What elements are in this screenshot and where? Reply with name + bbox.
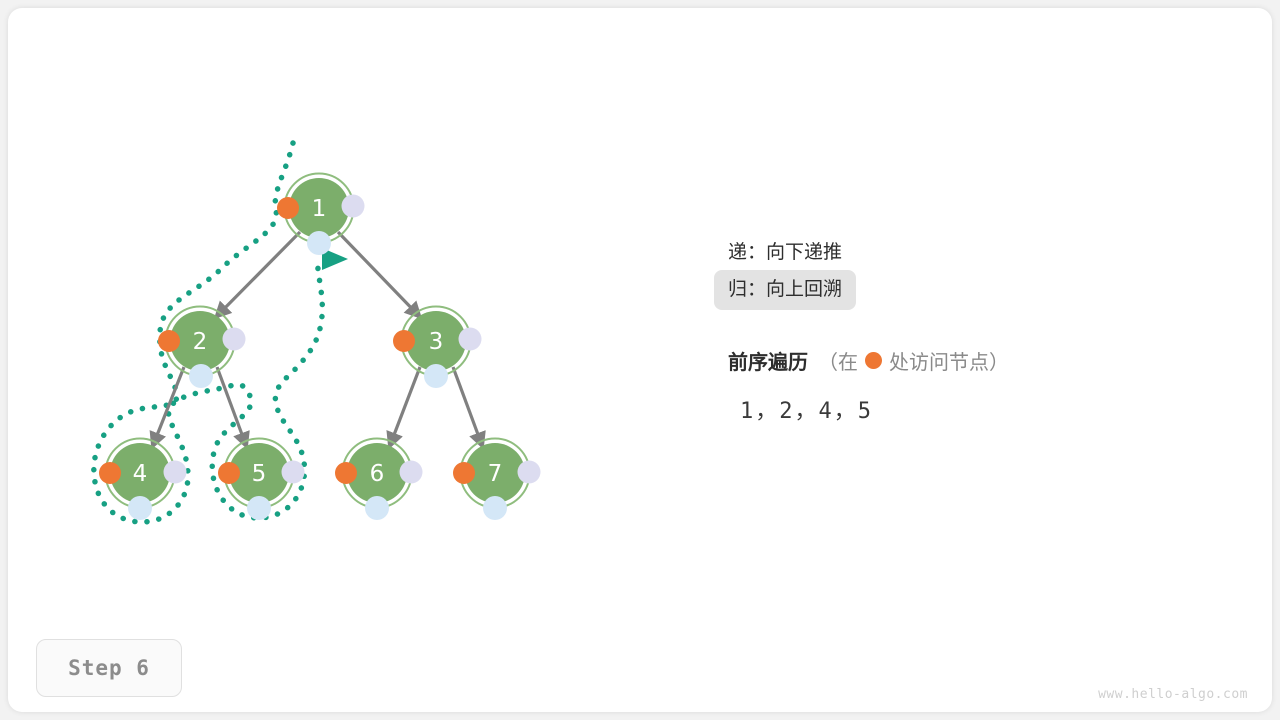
edge-3-6 (389, 367, 420, 448)
step-badge-label: Step 6 (68, 656, 150, 680)
bottom-dot-icon (128, 496, 152, 520)
visit-dot-icon (277, 197, 299, 219)
node-label: 7 (488, 461, 503, 487)
tree-node-6[interactable]: 6 (335, 439, 423, 521)
visit-dot-icon (393, 330, 415, 352)
visit-dot-icon (158, 330, 180, 352)
right-dot-icon (459, 328, 482, 351)
node-label: 1 (312, 196, 327, 222)
bottom-dot-icon (365, 496, 389, 520)
legend-panel: 递：向下递推 归：向上回溯 前序遍历 （在 处访问节点） 1，2，4，5 (728, 236, 1228, 425)
node-label: 2 (193, 329, 208, 355)
visit-dot-icon (865, 352, 882, 369)
right-dot-icon (223, 328, 246, 351)
right-dot-icon (400, 461, 423, 484)
traversal-title-prefix: （在 (818, 346, 858, 375)
edge-1-3 (338, 232, 421, 318)
tree-node-7[interactable]: 7 (453, 439, 541, 521)
right-dot-icon (518, 461, 541, 484)
right-dot-icon (164, 461, 187, 484)
watermark-text: www.hello-algo.com (1098, 687, 1248, 702)
screenshot-stage: 1 2 3 4 (0, 0, 1280, 720)
node-label: 6 (370, 461, 385, 487)
traversal-type-label: 前序遍历 (728, 346, 808, 375)
legend-recurse-down-row: 递：向下递推 (728, 236, 1228, 270)
traversal-block: 前序遍历 （在 处访问节点） 1，2，4，5 (728, 346, 1228, 425)
tree-node-4[interactable]: 4 (99, 439, 187, 521)
watermark: www.hello-algo.com (1098, 687, 1248, 702)
step-badge: Step 6 (36, 639, 182, 697)
tree-node-3[interactable]: 3 (393, 307, 482, 389)
legend-return-up-row: 归：向上回溯 (714, 270, 856, 310)
visit-dot-icon (218, 462, 240, 484)
edge-2-5 (217, 367, 247, 448)
traversal-sequence: 1，2，4，5 (740, 393, 1228, 425)
node-label: 5 (252, 461, 267, 487)
bottom-dot-icon (189, 364, 213, 388)
bottom-dot-icon (247, 496, 271, 520)
node-label: 4 (133, 461, 148, 487)
legend-recurse-down-label: 递：向下递推 (728, 238, 842, 267)
right-dot-icon (342, 195, 365, 218)
visit-dot-icon (453, 462, 475, 484)
traversal-title: 前序遍历 （在 处访问节点） (728, 346, 1228, 375)
bottom-dot-icon (307, 231, 331, 255)
right-dot-icon (282, 461, 305, 484)
bottom-dot-icon (483, 496, 507, 520)
bottom-dot-icon (424, 364, 448, 388)
visit-dot-icon (335, 462, 357, 484)
visit-dot-icon (99, 462, 121, 484)
legend-return-up-label: 归：向上回溯 (728, 275, 842, 304)
traversal-title-suffix: 处访问节点） (889, 346, 1009, 375)
edge-1-2 (215, 232, 300, 318)
node-label: 3 (429, 329, 444, 355)
edge-3-7 (453, 367, 483, 448)
